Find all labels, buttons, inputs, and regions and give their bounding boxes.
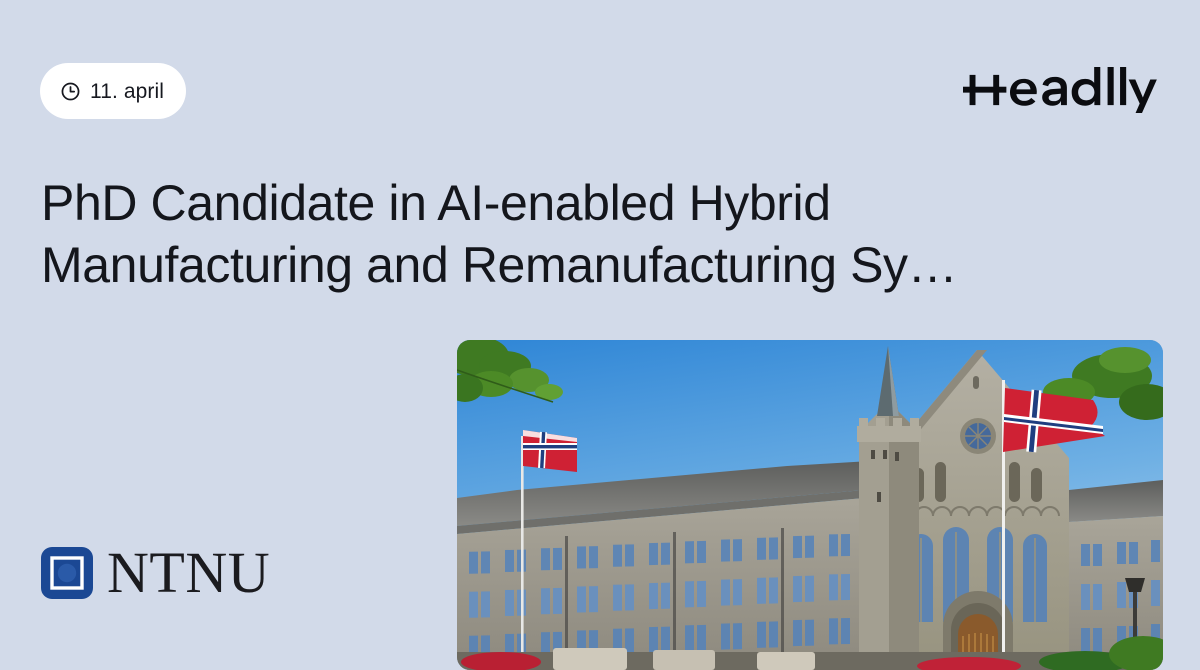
date-badge: 11. april	[40, 63, 186, 119]
article-hero-image	[457, 340, 1163, 670]
header-row: 11. april	[40, 63, 1160, 119]
headly-logo[interactable]	[963, 67, 1160, 113]
page-title: PhD Candidate in AI-enabled Hybrid Manuf…	[41, 172, 1121, 296]
ntnu-logo: NTNU	[41, 544, 270, 602]
clock-icon	[60, 81, 81, 102]
ntnu-wordmark: NTNU	[107, 544, 270, 602]
article-preview-card: 11. april	[0, 0, 1200, 630]
date-label: 11. april	[90, 81, 164, 102]
ntnu-square-circle-mark-icon	[41, 547, 93, 599]
